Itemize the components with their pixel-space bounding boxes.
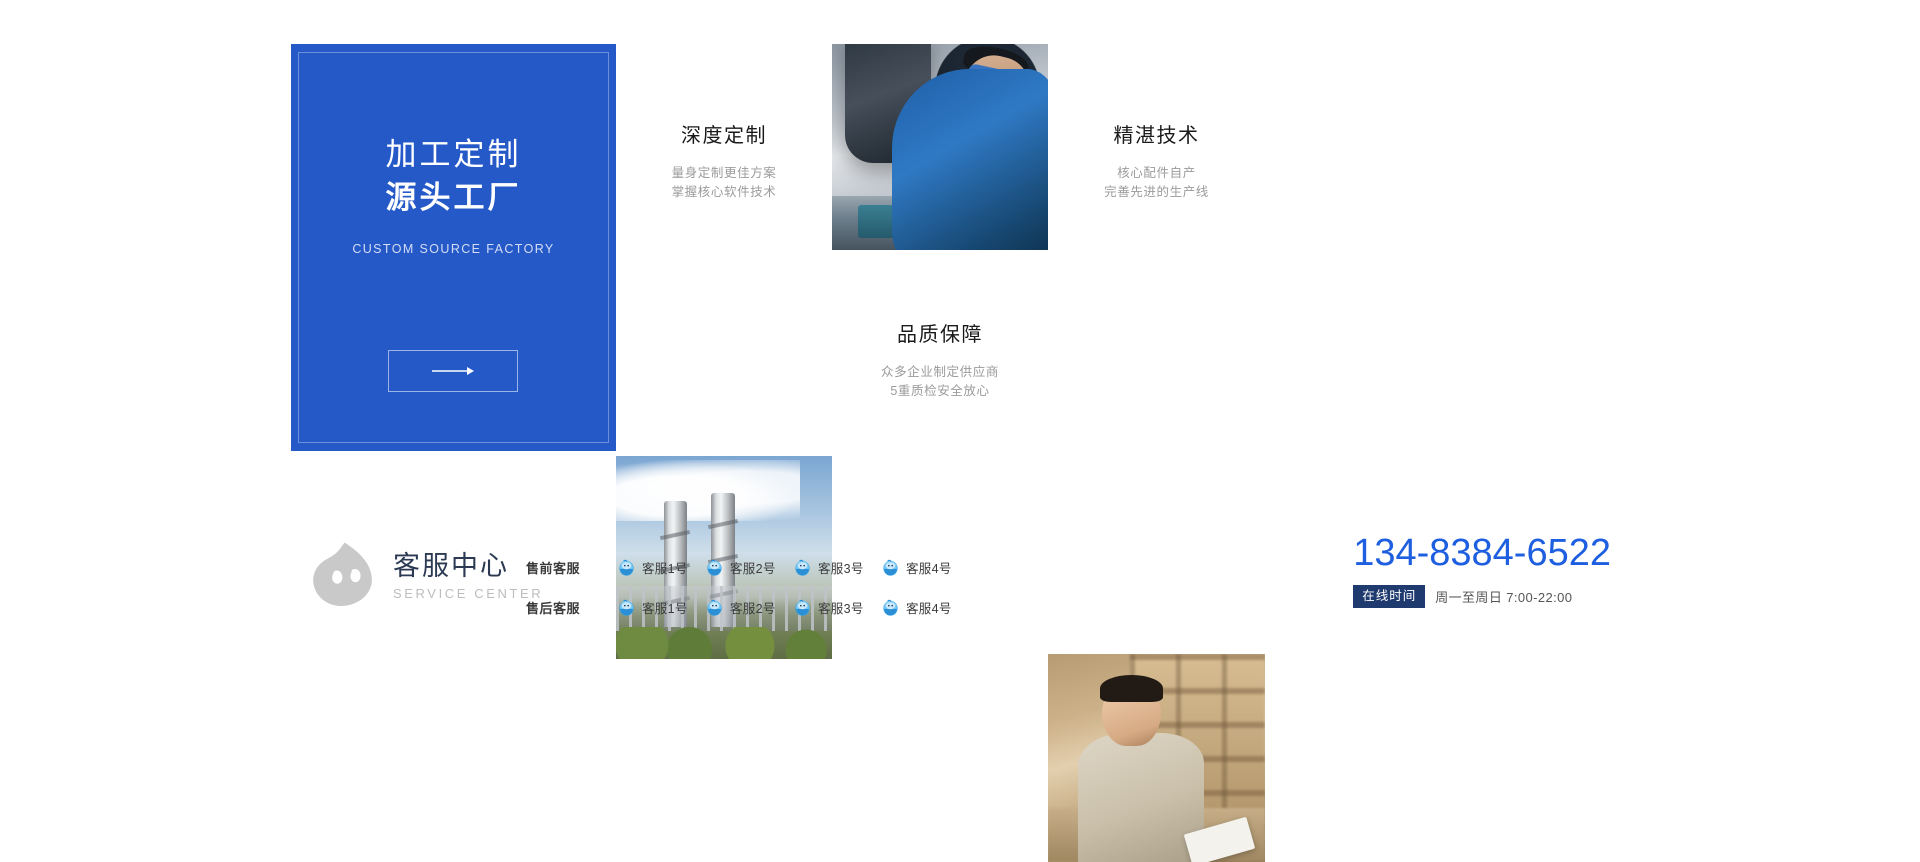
qq-icon: [794, 599, 811, 616]
feature-line: 核心配件自产: [1104, 164, 1209, 183]
feature-lines: 众多企业制定供应商 5重质检安全放心: [881, 363, 999, 402]
qq-contact-label: 客服2号: [730, 558, 776, 577]
qq-contact-item[interactable]: 客服4号: [882, 558, 970, 577]
qq-contact-label: 客服1号: [642, 598, 688, 617]
feature-title: 深度定制: [681, 119, 767, 148]
qq-contact-item[interactable]: 客服4号: [882, 598, 970, 617]
feature-card-2: 精湛技术 核心配件自产 完善先进的生产线: [1048, 44, 1265, 250]
qq-contact-label: 客服4号: [906, 558, 952, 577]
promo-cta-button[interactable]: [388, 350, 518, 392]
qq-icon: [706, 599, 723, 616]
feature-line: 掌握核心软件技术: [672, 183, 777, 202]
qq-icon: [618, 559, 635, 576]
promo-subtitle: CUSTOM SOURCE FACTORY: [352, 242, 554, 256]
contact-list: 售前客服 客服1号: [526, 548, 970, 626]
machinist-drilling-photo: [832, 44, 1048, 250]
phone-block: 134-8384-6522 在线时间 周一至周日 7:00-22:00: [1353, 534, 1611, 608]
qq-icon: [882, 559, 899, 576]
qq-contact-item[interactable]: 客服2号: [706, 558, 794, 577]
aftersale-contact-row: 售后客服 客服1号: [526, 588, 970, 626]
qq-icon: [882, 599, 899, 616]
brand-title-cn: 客服中心: [393, 551, 543, 582]
aftersale-row-label: 售后客服: [526, 598, 618, 617]
feature-card-3: 品质保障 众多企业制定供应商 5重质检安全放心: [832, 250, 1048, 453]
presale-row-label: 售前客服: [526, 558, 618, 577]
qq-icon: [706, 559, 723, 576]
qq-contact-item[interactable]: 客服1号: [618, 558, 706, 577]
warehouse-staff-photo: [1048, 654, 1265, 862]
phone-number[interactable]: 134-8384-6522: [1353, 534, 1611, 572]
qq-contact-item[interactable]: 客服2号: [706, 598, 794, 617]
feature-lines: 量身定制更佳方案 掌握核心软件技术: [672, 164, 777, 203]
service-footer: 客服中心 SERVICE CENTER 售前客服 客: [0, 520, 1920, 680]
online-time-badge: 在线时间: [1353, 585, 1425, 608]
presale-contact-row: 售前客服 客服1号: [526, 548, 970, 586]
promo-title-line2: 源头工厂: [386, 179, 522, 218]
qq-contact-label: 客服3号: [818, 558, 864, 577]
feature-title: 精湛技术: [1114, 119, 1200, 148]
qq-icon: [794, 559, 811, 576]
promo-title-line1: 加工定制: [386, 136, 522, 175]
feature-lines: 核心配件自产 完善先进的生产线: [1104, 164, 1209, 203]
online-hours-row: 在线时间 周一至周日 7:00-22:00: [1353, 585, 1611, 608]
qq-contact-label: 客服3号: [818, 598, 864, 617]
feature-line: 量身定制更佳方案: [672, 164, 777, 183]
qq-contact-label: 客服2号: [730, 598, 776, 617]
brand-title-en: SERVICE CENTER: [393, 586, 543, 601]
service-brand: 客服中心 SERVICE CENTER: [305, 538, 543, 614]
feature-line: 5重质检安全放心: [881, 382, 999, 401]
qq-contact-label: 客服4号: [906, 598, 952, 617]
hero-section: 加工定制 源头工厂 CUSTOM SOURCE FACTORY 深度定制 量身定…: [291, 44, 1265, 453]
feature-line: 众多企业制定供应商: [881, 363, 999, 382]
photo-detail: [858, 205, 949, 238]
qq-contact-label: 客服1号: [642, 558, 688, 577]
feature-title: 品质保障: [897, 318, 983, 347]
qq-contact-item[interactable]: 客服3号: [794, 598, 882, 617]
promo-panel: 加工定制 源头工厂 CUSTOM SOURCE FACTORY: [291, 44, 616, 451]
mascot-droplet-icon: [305, 538, 381, 614]
qq-icon: [618, 599, 635, 616]
feature-card-1: 深度定制 量身定制更佳方案 掌握核心软件技术: [616, 44, 832, 250]
arrow-right-icon: [431, 365, 475, 377]
photo-detail: [616, 460, 800, 521]
online-time-value: 周一至周日 7:00-22:00: [1435, 587, 1572, 606]
qq-contact-item[interactable]: 客服3号: [794, 558, 882, 577]
feature-line: 完善先进的生产线: [1104, 183, 1209, 202]
qq-contact-item[interactable]: 客服1号: [618, 598, 706, 617]
